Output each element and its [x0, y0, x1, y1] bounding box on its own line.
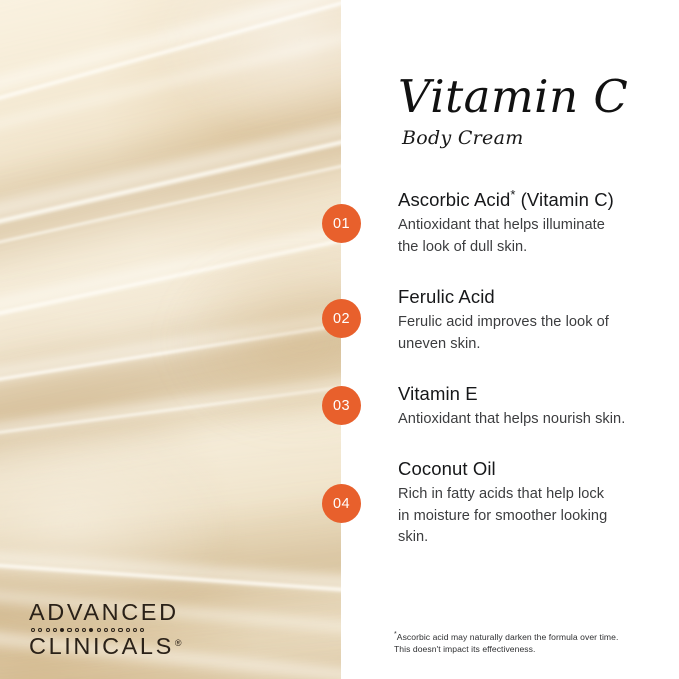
content-panel: Vitamin C Body Cream Ascorbic Acid* (Vit…	[341, 0, 679, 679]
ingredient-name: Vitamin E	[398, 383, 478, 404]
page-title: Vitamin C	[398, 74, 668, 120]
ingredient-title: Ferulic Acid	[398, 286, 670, 308]
logo-dot	[133, 628, 137, 632]
ingredient-badge-04: 04	[322, 484, 361, 523]
logo-dot-filled	[89, 628, 93, 632]
logo-dot	[38, 628, 42, 632]
brand-logo: ADVANCED CLINICALS	[29, 600, 209, 659]
product-infographic: ADVANCED CLINICALS	[0, 0, 679, 679]
ingredient-item: Ascorbic Acid* (Vitamin C) Antioxidant t…	[398, 187, 670, 258]
logo-dot	[31, 628, 35, 632]
page-subtitle: Body Cream	[402, 127, 668, 149]
logo-dot	[82, 628, 86, 632]
ingredient-title: Coconut Oil	[398, 458, 670, 480]
logo-dot	[104, 628, 108, 632]
title-block: Vitamin C Body Cream	[398, 74, 668, 149]
logo-clinicals-text: CLINICALS	[29, 634, 174, 659]
logo-dot-filled	[60, 628, 64, 632]
ingredient-description: Rich in fatty acids that help lock in mo…	[398, 484, 610, 549]
registered-trademark-icon: ®	[175, 639, 182, 648]
ingredient-badge-03: 03	[322, 386, 361, 425]
logo-dot	[140, 628, 144, 632]
ingredient-badge-01: 01	[322, 204, 361, 243]
logo-line-clinicals: CLINICALS ®	[29, 634, 209, 659]
ingredient-item: Coconut Oil Rich in fatty acids that hel…	[398, 458, 670, 549]
ingredient-description: Antioxidant that helps nourish skin.	[398, 409, 660, 431]
ingredient-title: Vitamin E	[398, 383, 670, 405]
cream-texture-photo: ADVANCED CLINICALS	[0, 0, 341, 679]
logo-dot	[111, 628, 115, 632]
logo-dot	[75, 628, 79, 632]
footnote-text: Ascorbic acid may naturally darken the f…	[394, 632, 618, 654]
footnote: *Ascorbic acid may naturally darken the …	[394, 629, 634, 656]
ingredient-title-suffix: (Vitamin C)	[515, 189, 614, 210]
ingredient-item: Vitamin E Antioxidant that helps nourish…	[398, 383, 670, 431]
logo-dot	[53, 628, 57, 632]
logo-dot	[126, 628, 130, 632]
ingredient-name: Coconut Oil	[398, 458, 496, 479]
logo-dot	[97, 628, 101, 632]
ingredient-name: Ascorbic Acid	[398, 189, 510, 210]
ingredient-item: Ferulic Acid Ferulic acid improves the l…	[398, 286, 670, 355]
ingredient-name: Ferulic Acid	[398, 286, 495, 307]
ingredient-badge-02: 02	[322, 299, 361, 338]
logo-line-advanced: ADVANCED	[29, 600, 209, 625]
logo-dot	[46, 628, 50, 632]
logo-dot	[67, 628, 71, 632]
ingredient-title: Ascorbic Acid* (Vitamin C)	[398, 187, 670, 211]
logo-dot	[118, 628, 122, 632]
ingredient-description: Ferulic acid improves the look of uneven…	[398, 312, 626, 355]
ingredient-description: Antioxidant that helps illuminate the lo…	[398, 215, 613, 258]
